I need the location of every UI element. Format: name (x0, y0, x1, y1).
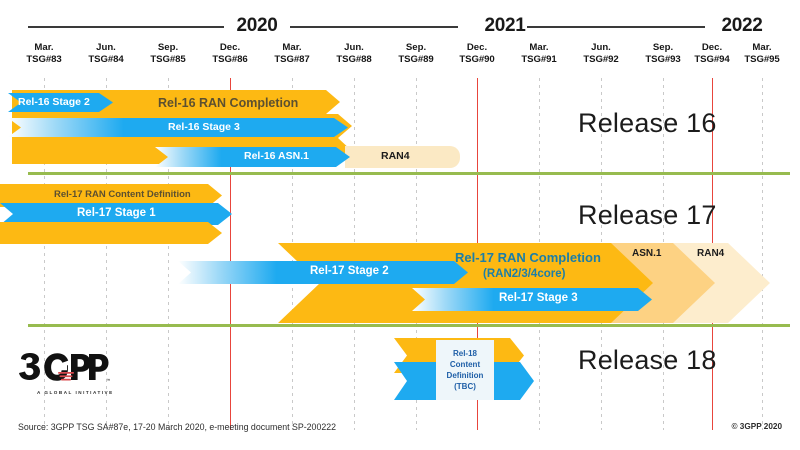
release-divider-1 (28, 172, 790, 175)
tick-label-tsg87: Mar.TSG#87 (261, 42, 323, 65)
year-label: 2020 (227, 14, 287, 38)
tick-label-tsg83: Mar.TSG#83 (13, 42, 75, 65)
tick-month: Mar. (261, 42, 323, 54)
tick-month: Mar. (508, 42, 570, 54)
rel18-box-line-1: Rel-18 (453, 348, 477, 359)
release-divider-2 (28, 324, 790, 327)
tick-tsg: TSG#84 (75, 54, 137, 66)
tick-month: Jun. (75, 42, 137, 54)
bar-rel16-asn1 (155, 147, 350, 167)
tick-tsg: TSG#92 (570, 54, 632, 66)
copyright-note: © 3GPP 2020 (732, 422, 783, 431)
tick-month: Sep. (137, 42, 199, 54)
timeline-root: 202020212022 Mar.TSG#83Jun.TSG#84Sep.TSG… (0, 0, 800, 450)
tick-tsg: TSG#88 (323, 54, 385, 66)
rel18-box-line-2: Content (450, 359, 480, 370)
year-rule (527, 26, 705, 28)
year-header-row: 202020212022 (0, 14, 800, 38)
tick-month: Sep. (385, 42, 447, 54)
tick-tsg: TSG#83 (13, 54, 75, 66)
tick-label-tsg86: Dec.TSG#86 (199, 42, 261, 65)
tick-tsg: TSG#90 (446, 54, 508, 66)
tick-month: Mar. (731, 42, 793, 54)
rel18-content-definition-box: Rel-18ContentDefinition(TBC) (436, 340, 494, 400)
source-note: Source: 3GPP TSG SA#87e, 17-20 March 202… (18, 422, 336, 432)
bar-rel17-stage1 (0, 203, 232, 225)
tick-month: Dec. (446, 42, 508, 54)
tick-tsg: TSG#89 (385, 54, 447, 66)
bar-rel17-stage2 (178, 261, 468, 284)
year-label: 2021 (475, 14, 535, 38)
tick-tsg: TSG#86 (199, 54, 261, 66)
tick-month: Dec. (199, 42, 261, 54)
release-title-rel17: Release 17 (578, 200, 717, 231)
bar-rel16-stage2 (8, 93, 113, 112)
tick-label-tsg89: Sep.TSG#89 (385, 42, 447, 65)
tick-month: Jun. (570, 42, 632, 54)
tick-label-tsg95: Mar.TSG#95 (731, 42, 793, 65)
year-rule (290, 26, 458, 28)
tick-label-tsg92: Jun.TSG#92 (570, 42, 632, 65)
3gpp-logo: ™ A GLOBAL INITIATIVE (18, 352, 110, 400)
3gpp-logo-subtitle: A GLOBAL INITIATIVE (37, 390, 114, 395)
bar-rel16-ran4 (345, 146, 460, 168)
year-rule (28, 26, 224, 28)
svg-text:™: ™ (106, 378, 110, 383)
tick-label-tsg88: Jun.TSG#88 (323, 42, 385, 65)
tick-tsg: TSG#95 (731, 54, 793, 66)
tick-label-tsg91: Mar.TSG#91 (508, 42, 570, 65)
bar-rel17-stage3 (412, 288, 652, 311)
tick-month: Jun. (323, 42, 385, 54)
bar-rel17-stage1-under (0, 222, 222, 244)
tick-label-tsg85: Sep.TSG#85 (137, 42, 199, 65)
3gpp-logo-icon: ™ (18, 352, 110, 392)
bar-rel16-stage3 (8, 118, 348, 137)
year-label: 2022 (712, 14, 772, 38)
tick-tsg: TSG#85 (137, 54, 199, 66)
release-title-rel16: Release 16 (578, 108, 717, 139)
tick-tsg: TSG#91 (508, 54, 570, 66)
tick-label-tsg84: Jun.TSG#84 (75, 42, 137, 65)
rel18-box-line-3: Definition (447, 370, 484, 381)
tick-tsg: TSG#87 (261, 54, 323, 66)
tick-month: Mar. (13, 42, 75, 54)
tick-label-tsg90: Dec.TSG#90 (446, 42, 508, 65)
gridline-tsg95 (762, 78, 763, 430)
rel18-box-line-4: (TBC) (454, 381, 476, 392)
release-title-rel18: Release 18 (578, 345, 717, 376)
